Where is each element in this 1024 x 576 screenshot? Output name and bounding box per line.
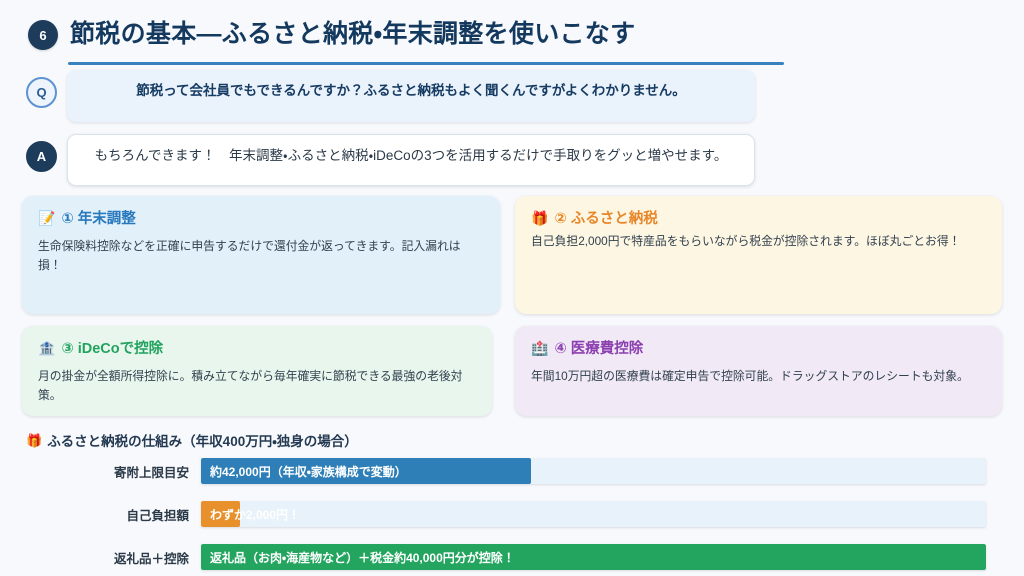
slide-header: 6 節税の基本—ふるさと納税・年末調整を使いこなす — [28, 14, 768, 64]
gift-icon: 🎁 — [531, 211, 548, 225]
tip-card-heading-4: 🏥 ④ 医療費控除 — [531, 337, 986, 358]
bar-track-donation-limit: 約42,000円（年収・家族構成で変動） — [201, 458, 986, 484]
tip-card-body-3: 月の掛金が全額所得控除に。積み立てながら毎年確実に節税できる最強の老後対策。 — [38, 367, 476, 405]
title-underline-divider — [68, 62, 784, 65]
answer-badge: A — [26, 141, 57, 172]
bar-row: 返礼品＋控除 返礼品（お肉・海産物など）＋税金約40,000円分が控除！ — [26, 544, 986, 570]
bar-value-gift-deduction: 返礼品（お肉・海産物など）＋税金約40,000円分が控除！ — [210, 544, 515, 570]
page-title: 節税の基本—ふるさと納税・年末調整を使いこなす — [70, 14, 635, 50]
tip-card-heading-2: 🎁 ② ふるさと納税 — [531, 207, 986, 228]
chart-title-text: ふるさと納税の仕組み（年収400万円・独身の場合） — [47, 430, 358, 450]
tip-card-body-4: 年間10万円超の医療費は確定申告で控除可能。ドラッグストアのレシートも対象。 — [531, 367, 986, 386]
tip-card-year-end-adjustment: 📝 ① 年末調整 生命保険料控除などを正確に申告するだけで還付金が返ってきます。… — [22, 196, 500, 314]
tip-card-title-4: ④ 医療費控除 — [554, 337, 643, 358]
bar-value-donation-limit: 約42,000円（年収・家族構成で変動） — [210, 458, 407, 484]
answer-text: もちろんできます！ 年末調整・ふるさと納税・iDeCoの3つを活用するだけで手取… — [67, 134, 755, 186]
tip-card-ideco: 🏦 ③ iDeCoで控除 月の掛金が全額所得控除に。積み立てながら毎年確実に節税… — [22, 326, 492, 416]
tip-card-title-1: ① 年末調整 — [61, 207, 135, 228]
bar-label-self-payment: 自己負担額 — [26, 505, 201, 524]
gift-icon: 🎁 — [26, 434, 42, 447]
chart-title: 🎁 ふるさと納税の仕組み（年収400万円・独身の場合） — [26, 430, 986, 450]
tip-card-heading-3: 🏦 ③ iDeCoで控除 — [38, 337, 476, 358]
bar-row: 寄附上限目安 約42,000円（年収・家族構成で変動） — [26, 458, 986, 484]
memo-icon: 📝 — [38, 211, 55, 225]
bar-label-gift-deduction: 返礼品＋控除 — [26, 548, 201, 567]
tip-card-heading-1: 📝 ① 年末調整 — [38, 207, 484, 228]
answer-row: A もちろんできます！ 年末調整・ふるさと納税・iDeCoの3つを活用するだけで… — [26, 134, 755, 186]
question-text: 節税って会社員でもできるんですか？ふるさと納税もよく聞くんですがよくわかりません… — [67, 70, 755, 122]
bar-row: 自己負担額 わずか2,000円！ — [26, 501, 986, 527]
slide-number-badge: 6 — [28, 20, 58, 50]
tip-card-medical-deduction: 🏥 ④ 医療費控除 年間10万円超の医療費は確定申告で控除可能。ドラッグストアの… — [515, 326, 1002, 416]
tip-card-title-3: ③ iDeCoで控除 — [61, 337, 163, 358]
bar-value-self-payment: わずか2,000円！ — [210, 501, 300, 527]
bar-track-gift-deduction: 返礼品（お肉・海産物など）＋税金約40,000円分が控除！ — [201, 544, 986, 570]
furusato-mechanism-chart: 🎁 ふるさと納税の仕組み（年収400万円・独身の場合） 寄附上限目安 約42,0… — [26, 430, 986, 576]
hospital-icon: 🏥 — [531, 341, 548, 355]
bar-track-self-payment: わずか2,000円！ — [201, 501, 986, 527]
question-badge: Q — [26, 77, 57, 108]
slide-root: 6 節税の基本—ふるさと納税・年末調整を使いこなす Q 節税って会社員でもできる… — [0, 0, 1024, 576]
question-row: Q 節税って会社員でもできるんですか？ふるさと納税もよく聞くんですがよくわかりま… — [26, 70, 755, 122]
tip-card-body-2: 自己負担2,000円で特産品をもらいながら税金が控除されます。ほぼ丸ごとお得！ — [531, 232, 986, 251]
bar-label-donation-limit: 寄附上限目安 — [26, 462, 201, 481]
tip-card-furusato-nozei: 🎁 ② ふるさと納税 自己負担2,000円で特産品をもらいながら税金が控除されま… — [515, 196, 1002, 314]
bank-icon: 🏦 — [38, 341, 55, 355]
tip-card-title-2: ② ふるさと納税 — [554, 207, 657, 228]
tip-card-body-1: 生命保険料控除などを正確に申告するだけで還付金が返ってきます。記入漏れは損！ — [38, 237, 484, 275]
